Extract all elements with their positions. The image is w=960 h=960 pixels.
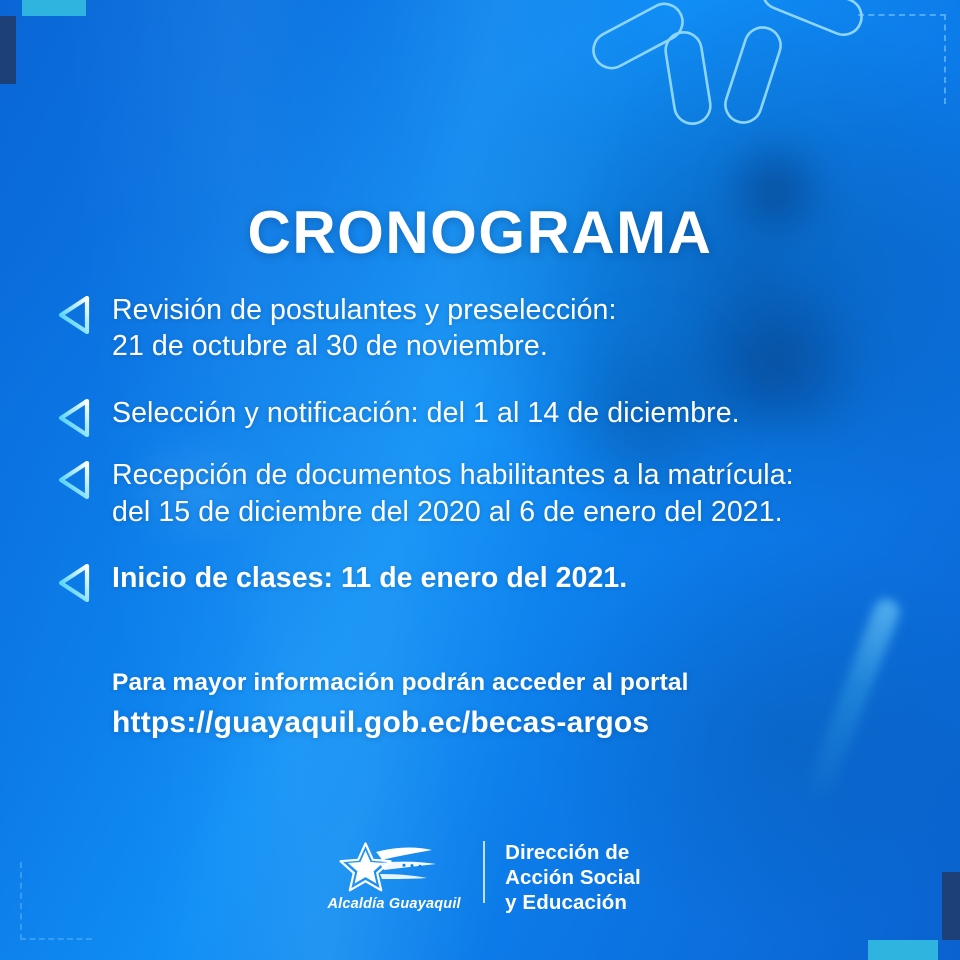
alcaldia-brand-block: Alcaldía Guayaquil — [319, 842, 469, 912]
list-item-label: Selección y notificación: del 1 al 14 de… — [112, 395, 740, 431]
schedule-list: Revisión de postulantes y preselección: … — [58, 292, 918, 597]
footer-divider — [483, 841, 485, 903]
star-swoosh-logo-icon — [332, 842, 456, 894]
page-title: CRONOGRAMA — [0, 198, 960, 267]
list-item-label: Inicio de clases: 11 de enero del 2021. — [112, 560, 627, 596]
left-triangle-bullet-icon — [58, 399, 92, 437]
left-triangle-bullet-icon — [58, 296, 92, 334]
list-item: Recepción de documentos habilitantes a l… — [58, 457, 918, 530]
left-triangle-bullet-icon — [58, 461, 92, 499]
footer-branding: Alcaldía Guayaquil Dirección de Acción S… — [0, 838, 960, 915]
list-item-label: Revisión de postulantes y preselección: … — [112, 292, 617, 365]
list-item: Inicio de clases: 11 de enero del 2021. — [58, 560, 918, 596]
portal-info-text: Para mayor información podrán acceder al… — [112, 668, 872, 699]
poster-content: CRONOGRAMA Revisió — [0, 0, 960, 960]
department-label: Dirección de Acción Social y Educación — [505, 838, 641, 915]
poster-canvas: CRONOGRAMA Revisió — [0, 0, 960, 960]
list-item: Selección y notificación: del 1 al 14 de… — [58, 395, 918, 431]
list-item: Revisión de postulantes y preselección: … — [58, 292, 918, 365]
portal-url-link[interactable]: https://guayaquil.gob.ec/becas-argos — [112, 705, 872, 741]
brand-name-label: Alcaldía Guayaquil — [327, 896, 460, 912]
left-triangle-bullet-icon — [58, 564, 92, 602]
list-item-label: Recepción de documentos habilitantes a l… — [112, 457, 794, 530]
portal-info: Para mayor información podrán acceder al… — [112, 668, 872, 741]
